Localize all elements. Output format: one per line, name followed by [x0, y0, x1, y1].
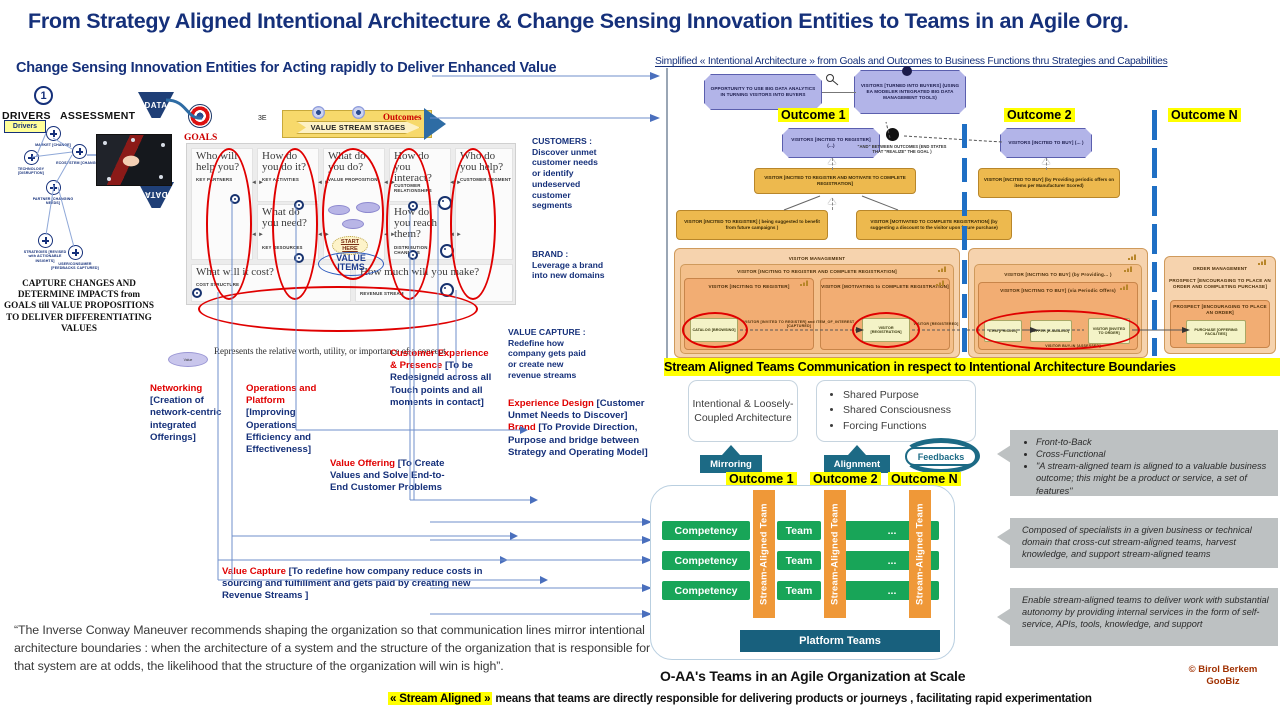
team-principles-box: Shared Purpose Shared Consciousness Forc…	[816, 380, 976, 442]
requirement-links	[748, 192, 928, 214]
arch-principle-box: Intentional & Loosely-Coupled Architectu…	[688, 380, 798, 442]
capability-group-order-management-label: ORDER MANAGEMENT	[1164, 266, 1276, 272]
callout-tag-1	[997, 445, 1011, 463]
competency-1[interactable]: Competency	[662, 521, 750, 540]
callout-bullet-cross-functional: Cross-Functional	[1036, 448, 1270, 460]
author-org: GooBiz	[1168, 676, 1278, 688]
stream-aligned-team-1[interactable]: Stream-Aligned Team	[753, 490, 775, 618]
value-stream-brace: 3E	[258, 115, 267, 122]
boundary-bar-1	[962, 124, 967, 148]
boundary-bar-n-1	[1152, 110, 1157, 140]
team-outcome-chip-2: Outcome 2	[810, 472, 881, 486]
architecture-goal-opportunity[interactable]: OPPORTUNITY TO USE BIG DATA ANALYTICS IN…	[704, 74, 822, 110]
capability-chart-icon-4	[1128, 254, 1136, 260]
goal-connector	[822, 92, 856, 93]
stream-aligned-definition: « Stream Aligned » means that teams are …	[388, 692, 1278, 705]
oaa-teams-title: O-AA's Teams in an Agile Organization at…	[660, 668, 1080, 684]
highlight-ellipse-buy-apps	[976, 310, 1140, 350]
capability-chart-icon-5	[1124, 266, 1132, 272]
capability-group-visitor-management-label: VISITOR MANAGEMENT	[674, 256, 960, 262]
mirroring-button[interactable]: Mirroring	[700, 455, 762, 473]
callout-stream-aligned: Front-to-Back Cross-Functional "A stream…	[1010, 430, 1278, 496]
architecture-left-rail	[666, 68, 668, 358]
team-outcome-chip-1: Outcome 1	[726, 472, 797, 486]
generalization-line-1	[832, 158, 833, 170]
boundary-bar-n-5	[1152, 262, 1157, 292]
boundary-bar-n-6	[1152, 300, 1157, 330]
callout-tag-2	[997, 528, 1011, 546]
callout-platform-teams: Enable stream-aligned teams to deliver w…	[1010, 588, 1278, 646]
callout-enabling-teams: Composed of specialists in a given busin…	[1010, 518, 1278, 568]
goal-icon-2	[902, 66, 912, 76]
architecture-requirement-register-motivate[interactable]: VISITOR [INCITED TO REGISTER AND MOTIVAT…	[754, 168, 916, 194]
boundary-bar-n-3	[1152, 186, 1157, 216]
feedbacks-pill[interactable]: Feedbacks	[905, 447, 977, 466]
capability-inciting-register-complete-label: VISITOR [INCITING TO REGISTER AND COMPLE…	[680, 269, 954, 275]
competency-3[interactable]: Competency	[662, 581, 750, 600]
outcome-chip-n: Outcome N	[1168, 108, 1241, 122]
capability-chart-icon-2	[800, 280, 808, 286]
annotation-customers-title: CUSTOMERS	[532, 136, 587, 146]
architecture-requirement-incited-to-buy[interactable]: VISITOR [INCITED TO BUY] (by Providing p…	[978, 168, 1120, 198]
step-number-badge: 1	[34, 86, 53, 105]
alignment-arrow-icon	[848, 445, 866, 455]
and-dashed-links	[860, 120, 1020, 150]
right-flow-arrows	[430, 510, 660, 630]
principle-shared-consciousness: Shared Consciousness	[843, 403, 951, 418]
value-stream-target-2-icon	[352, 106, 365, 119]
capability-inciting-to-buy-periodic-label: VISITOR [INCITING TO BUY] (via Periodic …	[978, 288, 1138, 294]
principle-shared-purpose: Shared Purpose	[843, 388, 951, 403]
platform-teams-bar[interactable]: Platform Teams	[740, 630, 940, 652]
stream-aligned-term: « Stream Aligned »	[388, 692, 492, 705]
outcome-chip-1: Outcome 1	[778, 108, 849, 122]
stream-aligned-team-3[interactable]: Stream-Aligned Team	[909, 490, 931, 618]
highlight-ellipse-catalog	[682, 312, 748, 348]
architecture-feed-arrows	[420, 66, 680, 136]
stream-aligned-band: Stream Aligned Teams Communication in re…	[664, 358, 1280, 376]
capability-motivating-complete-label: VISITOR [MOTIVATING to COMPLETE REGISTRA…	[820, 284, 950, 290]
capability-chart-icon-7	[1258, 259, 1266, 265]
stream-aligned-team-2[interactable]: Stream-Aligned Team	[824, 490, 846, 618]
boundary-bar-6	[962, 294, 967, 318]
boundary-bar-n-4	[1152, 224, 1157, 254]
boundary-bar-3	[962, 192, 967, 216]
capability-inciting-to-buy-providing-label: VISITOR [INCITING TO BUY] (by Providing.…	[974, 272, 1142, 278]
conway-quote: “The Inverse Conway Maneuver recommends …	[14, 622, 654, 676]
outcomes-label: Outcomes	[383, 112, 422, 122]
boundary-bar-4	[962, 226, 967, 250]
boundary-bar-n-2	[1152, 148, 1157, 178]
capability-chart-icon-3	[936, 280, 944, 286]
conway-quote-text: “The Inverse Conway Maneuver recommends …	[14, 623, 650, 673]
stream-aligned-definition-text: means that teams are directly responsibl…	[495, 692, 1091, 705]
team-cell-2[interactable]: Team	[777, 551, 821, 570]
boundary-bar-5	[962, 260, 967, 284]
principle-forcing-functions: Forcing Functions	[843, 419, 951, 434]
competency-2[interactable]: Competency	[662, 551, 750, 570]
highlight-ellipse-registration	[852, 312, 920, 348]
boundary-bar-n-7	[1152, 338, 1157, 356]
capture-changes-note: CAPTURE CHANGES AND DETERMINE IMPACTS fr…	[4, 278, 154, 334]
team-outcome-chip-n: Outcome N	[888, 472, 961, 486]
capability-prospect-order-purchase-label: PROSPECT [ENCOURAGING TO PLACE AN ORDER …	[1168, 278, 1272, 289]
value-stream-stage-label: VALUE STREAM STAGES	[296, 121, 420, 134]
goals-label: GOALS	[184, 133, 217, 143]
architecture-requirement-motivated-complete[interactable]: VISITOR [MOTIVATED TO COMPLETE REGISTRAT…	[856, 210, 1012, 240]
goals-inflow-arrow	[160, 96, 220, 130]
callout-bullet-quote: "A stream-aligned team is aligned to a v…	[1036, 460, 1270, 496]
alignment-button[interactable]: Alignment	[824, 455, 890, 473]
boundary-bar-2	[962, 158, 967, 182]
team-cell-1[interactable]: Team	[777, 521, 821, 540]
architecture-requirement-register-campaigns[interactable]: VISITOR [INCITED TO REGISTER] ( being su…	[676, 210, 828, 240]
author-credit: © Birol Berkem GooBiz	[1168, 664, 1278, 689]
capability-inciting-to-register-label: VISITOR [INCITING TO REGISTER]	[684, 284, 814, 290]
capability-prospect-place-order-label: PROSPECT [ENCOURAGING TO PLACE AN ORDER]	[1170, 304, 1270, 315]
generalization-line-2	[1046, 158, 1047, 170]
mirroring-arrow-icon	[722, 445, 740, 455]
architecture-goal-visitors-turned-into-buyers[interactable]: VISITORS [TURNED INTO BUYERS] (USING EA …	[854, 70, 966, 114]
concept-photo	[96, 134, 172, 186]
team-cell-3[interactable]: Team	[777, 581, 821, 600]
callout-tag-3	[997, 608, 1011, 626]
page-title: From Strategy Aligned Intentional Archit…	[28, 10, 1258, 34]
value-stream-target-1-icon	[312, 106, 325, 119]
capability-chart-icon-1	[938, 266, 946, 272]
callout-bullet-front-to-back: Front-to-Back	[1036, 436, 1270, 448]
author-name: © Birol Berkem	[1168, 664, 1278, 676]
capability-chart-icon-6	[1120, 284, 1128, 290]
boundary-bar-7	[962, 328, 967, 352]
goal-icon-1	[820, 72, 844, 86]
right-section-subtitle: Simplified « Intentional Architecture » …	[655, 56, 1280, 67]
